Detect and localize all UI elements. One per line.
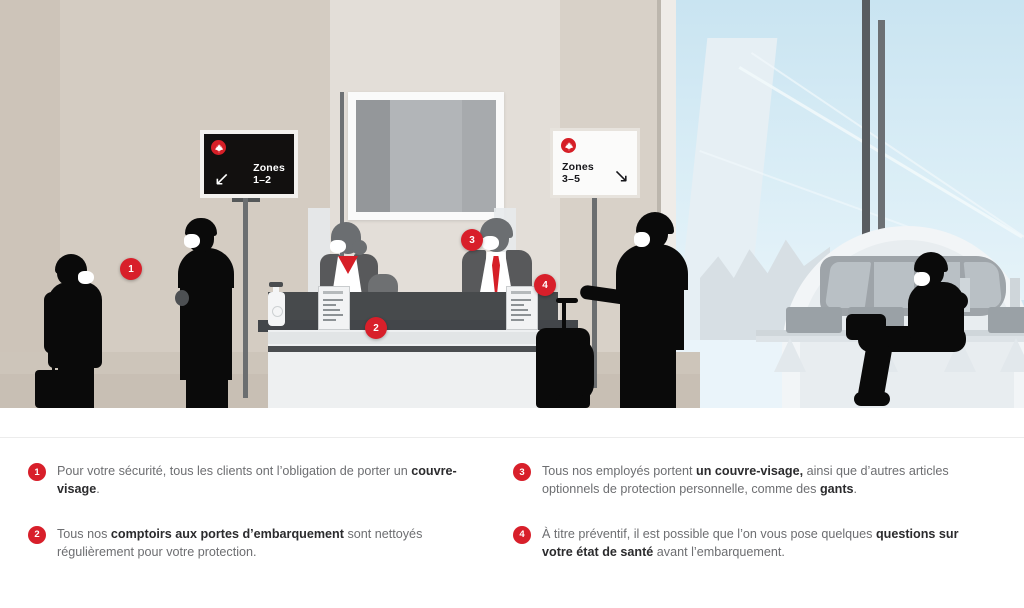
airplane-mast — [862, 0, 870, 250]
seated-passenger-bag — [846, 314, 886, 340]
callout-badge-4[interactable]: 4 — [534, 274, 556, 296]
hand-sanitizer-label — [272, 306, 283, 317]
legend-text-2: Tous nos comptoirs aux portes d’embarque… — [57, 525, 496, 562]
seated-passenger-arm — [916, 292, 968, 310]
airport-gate-illustration: ↙ Zones 1–2 ↘ Zones 3–5 — [0, 0, 1024, 408]
counter-monitor — [506, 286, 538, 330]
cockpit-window-pane — [825, 262, 871, 308]
monitor-header-line — [511, 291, 531, 294]
display-panel-left — [356, 100, 390, 212]
zone-sign-left-post — [243, 198, 248, 398]
passenger-shoulders — [616, 244, 688, 290]
zone-sign-left-text: Zones 1–2 — [253, 162, 285, 187]
legend-badge-1: 1 — [28, 463, 46, 481]
arrow-down-right-icon: ↘ — [613, 167, 629, 186]
passenger-legs — [620, 344, 676, 408]
legend-badge-3: 3 — [513, 463, 531, 481]
air-canada-maple-leaf-roundel-icon — [561, 138, 576, 153]
hand-sanitizer-pump — [269, 282, 283, 287]
gate-bench-seat — [988, 307, 1024, 333]
gate-bench-seat — [786, 307, 842, 333]
face-mask-icon — [482, 236, 499, 250]
monitor-text-line — [323, 299, 343, 301]
monitor-text-line — [323, 309, 340, 311]
suitcase-handle — [562, 300, 566, 334]
gate-counter-shadow — [268, 332, 568, 344]
monitor-header-line — [323, 291, 343, 294]
zone-label: Zones — [562, 161, 594, 173]
monitor-text-line — [323, 314, 343, 316]
zone-range: 1–2 — [253, 174, 285, 186]
monitor-text-line — [323, 304, 336, 306]
legend-section: 1 Pour votre sécurité, tous les clients … — [0, 408, 1024, 608]
gate-counter-trim — [268, 346, 568, 352]
face-mask-icon — [914, 272, 930, 286]
callout-badge-3[interactable]: 3 — [461, 229, 483, 251]
airplane-mast — [878, 20, 885, 250]
face-mask-icon — [330, 240, 346, 253]
monitor-text-line — [511, 304, 524, 306]
air-canada-maple-leaf-roundel-icon — [211, 140, 226, 155]
callout-badge-2[interactable]: 2 — [365, 317, 387, 339]
face-mask-icon — [184, 234, 200, 248]
zone-range: 3–5 — [562, 173, 594, 185]
passenger-hand — [175, 290, 189, 306]
legend-divider — [0, 437, 1024, 438]
zone-sign-right: ↘ Zones 3–5 — [550, 128, 640, 198]
arrow-down-left-icon: ↙ — [214, 170, 230, 189]
face-mask-icon — [78, 271, 94, 284]
legend-item: 4 À titre préventif, il est possible que… — [513, 525, 991, 562]
legend-column-left: 1 Pour votre sécurité, tous les clients … — [28, 462, 496, 587]
monitor-text-line — [323, 319, 336, 321]
passenger-arm — [44, 292, 60, 354]
counter-monitor — [318, 286, 350, 330]
display-panel-right — [462, 100, 496, 212]
gate-bench-leg — [1000, 338, 1024, 372]
legend-column-right: 3 Tous nos employés portent un couvre-vi… — [513, 462, 991, 587]
zone-label: Zones — [253, 162, 285, 174]
callout-badge-1[interactable]: 1 — [120, 258, 142, 280]
agent-hair-bun — [352, 240, 367, 255]
monitor-text-line — [511, 319, 524, 321]
seated-passenger-torso — [908, 282, 964, 338]
infographic-page: ↙ Zones 1–2 ↘ Zones 3–5 — [0, 0, 1024, 608]
monitor-text-line — [511, 314, 531, 316]
monitor-text-line — [511, 299, 531, 301]
legend-item: 2 Tous nos comptoirs aux portes d’embarq… — [28, 525, 496, 562]
legend-badge-2: 2 — [28, 526, 46, 544]
monitor-text-line — [511, 309, 528, 311]
legend-text-4: À titre préventif, il est possible que l… — [542, 525, 991, 562]
seated-passenger-foot — [854, 392, 890, 406]
gate-bench-leg — [774, 338, 806, 372]
legend-item: 3 Tous nos employés portent un couvre-vi… — [513, 462, 991, 499]
zone-sign-left: ↙ Zones 1–2 — [200, 130, 298, 198]
legend-badge-4: 4 — [513, 526, 531, 544]
zone-sign-right-text: Zones 3–5 — [562, 161, 594, 186]
legend-item: 1 Pour votre sécurité, tous les clients … — [28, 462, 496, 499]
hand-sanitizer-neck — [273, 286, 279, 294]
passenger-shoulders — [178, 248, 234, 288]
face-mask-icon — [634, 232, 650, 247]
passenger-legs — [58, 362, 94, 408]
suitcase-strap — [548, 338, 594, 402]
suitcase-handle-grip — [556, 298, 578, 303]
legend-text-1: Pour votre sécurité, tous les clients on… — [57, 462, 496, 499]
legend-text-3: Tous nos employés portent un couvre-visa… — [542, 462, 991, 499]
